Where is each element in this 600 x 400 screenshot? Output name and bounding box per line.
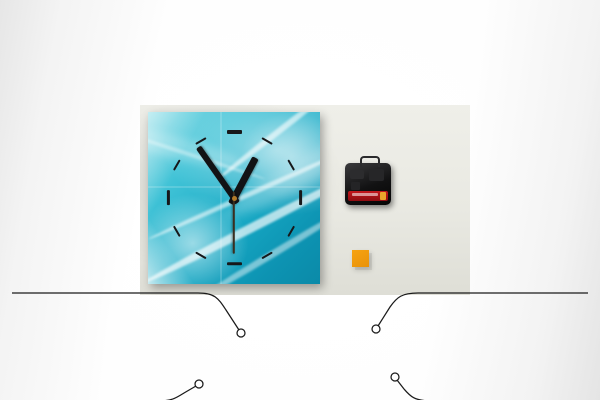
connector-node-left-1 xyxy=(237,329,245,337)
connector-node-right-2 xyxy=(391,373,399,381)
infographic-canvas: HARTOVANÉ SKLO Odolné proti rozbití a po… xyxy=(0,0,600,400)
connector-left-1 xyxy=(12,293,239,330)
connector-node-left-2 xyxy=(195,380,203,388)
connector-lines xyxy=(0,190,600,400)
mechanism-detail xyxy=(350,170,364,179)
connector-right-1 xyxy=(378,293,588,326)
connector-right-2 xyxy=(397,380,588,400)
clock-tick xyxy=(227,130,242,133)
mechanism-detail xyxy=(351,182,360,190)
connector-left-2 xyxy=(12,386,196,400)
mechanism-detail xyxy=(369,169,384,181)
glass-reflection-line xyxy=(148,186,320,188)
connector-node-right-1 xyxy=(372,325,380,333)
mechanism-hanger xyxy=(360,156,380,167)
